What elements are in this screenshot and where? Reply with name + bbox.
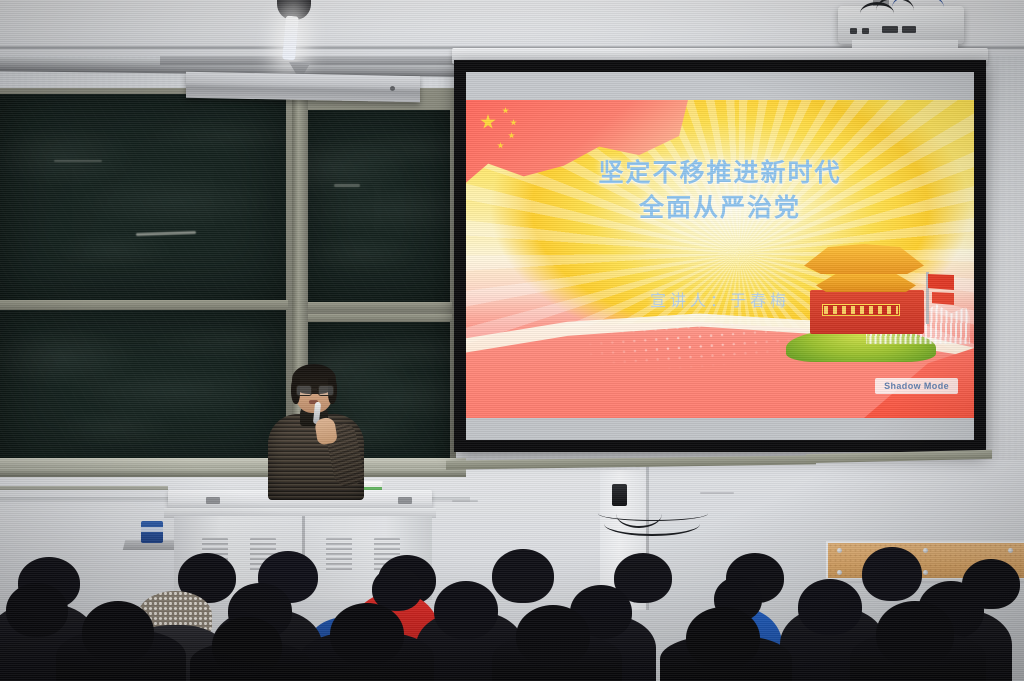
audience-head — [434, 581, 498, 639]
chalk-tray — [0, 468, 466, 477]
audience-head — [212, 617, 282, 675]
blackboard-panel — [0, 310, 286, 468]
blackboard-divider — [300, 302, 452, 311]
audience-head — [82, 601, 154, 663]
slide-title-line2: 全面从严治党 — [466, 191, 974, 226]
podium-hinge — [206, 497, 220, 504]
slide-title-line1: 坚定不移推进新时代 — [466, 156, 974, 191]
slide-presenter-line: 宣讲人：于春梅 — [466, 287, 974, 311]
audience-head — [686, 607, 760, 669]
wall-scuff — [700, 492, 734, 494]
audience-head — [516, 605, 590, 667]
wall-rail-left — [0, 486, 168, 490]
audience-head — [492, 549, 554, 603]
blackboard — [0, 88, 456, 476]
audience-head — [6, 583, 68, 637]
blackboard-divider — [300, 314, 452, 322]
light-fixture-bar — [186, 72, 420, 102]
audience-head — [876, 601, 954, 667]
audience-head — [798, 579, 862, 635]
projector-cable — [860, 2, 894, 25]
presenter-glasses-icon — [296, 385, 332, 394]
projector-port — [862, 28, 869, 34]
blackboard-panel — [0, 94, 286, 302]
projection-screen-surface: 坚定不移推进新时代 全面从严治党 宣讲人：于春梅 Shadow Mode — [466, 72, 974, 440]
projector-port — [882, 26, 898, 33]
gate-upper-roof — [804, 244, 924, 274]
light-fixture-screw — [390, 86, 395, 91]
shadow-mode-watermark: Shadow Mode — [875, 378, 958, 394]
blackboard-divider — [0, 300, 288, 310]
blackboard-panel — [302, 110, 450, 302]
presentation-slide: 坚定不移推进新时代 全面从严治党 宣讲人：于春梅 Shadow Mode — [466, 100, 974, 418]
power-cable — [598, 506, 708, 521]
audience — [0, 531, 1024, 681]
lecture-hall-photo: 坚定不移推进新时代 全面从严治党 宣讲人：于春梅 Shadow Mode — [0, 0, 1024, 681]
slide-title: 坚定不移推进新时代 全面从严治党 — [466, 156, 974, 225]
podium-hinge — [398, 497, 412, 504]
wall-scuff — [452, 500, 478, 502]
audience-head — [862, 547, 922, 601]
audience-head — [330, 603, 404, 665]
projector-port — [850, 28, 857, 34]
projector-port — [902, 26, 916, 33]
